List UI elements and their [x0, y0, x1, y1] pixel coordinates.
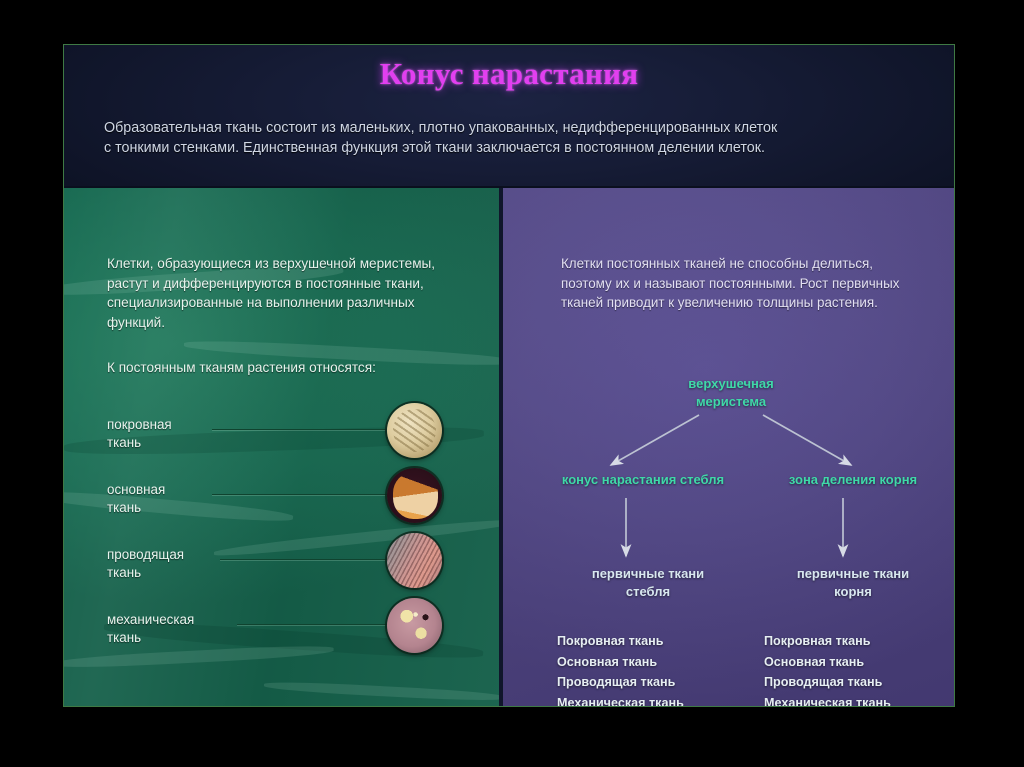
- tissue-label: проводящая ткань: [107, 546, 277, 582]
- tissue-label-line2: ткань: [107, 564, 277, 582]
- tissue-label-line2: ткань: [107, 629, 292, 647]
- right-paragraph-1: Клетки постоянных тканей не способны дел…: [561, 254, 921, 313]
- left-paragraph-1: Клетки, образующиеся из верхушечной мери…: [107, 254, 467, 332]
- tissue-label-line1: проводящая: [107, 546, 277, 564]
- tissue-label-line1: основная: [107, 481, 277, 499]
- intro-line-1: Образовательная ткань состоит из маленьк…: [104, 118, 914, 138]
- tissue-row[interactable]: механическая ткань: [107, 611, 492, 673]
- parenchyma-micrograph[interactable]: [387, 468, 442, 523]
- left-paragraph-2: К постоянным тканям растения относятся:: [107, 358, 477, 378]
- intro-line-2: с тонкими стенками. Единственная функция…: [104, 138, 914, 158]
- list-item: Покровная ткань: [557, 631, 757, 652]
- node-primary-tissues-stem: первичные ткани стебля: [548, 565, 748, 601]
- arrow-to-stem: [611, 415, 699, 465]
- epidermis-micrograph[interactable]: [387, 403, 442, 458]
- right-purple-panel: Клетки постоянных тканей не способны дел…: [503, 188, 954, 707]
- node-apical-meristem: верхушечная меристема: [631, 375, 831, 411]
- node-stem-growth-cone: конус нарастания стебля: [518, 471, 768, 489]
- mechanical-micrograph[interactable]: [387, 598, 442, 653]
- left-green-panel: Клетки, образующиеся из верхушечной мери…: [64, 188, 499, 707]
- tissue-label: основная ткань: [107, 481, 277, 517]
- node-pt-stem-line2: стебля: [548, 583, 748, 601]
- node-apical-line2: меристема: [631, 393, 831, 411]
- list-item: Проводящая ткань: [764, 672, 954, 693]
- node-root-division-zone: зона деления корня: [743, 471, 954, 489]
- node-pt-root-line1: первичные ткани: [758, 565, 948, 583]
- node-apical-line1: верхушечная: [631, 375, 831, 393]
- page-title: Конус нарастания: [64, 56, 954, 92]
- list-item: Основная ткань: [557, 652, 757, 673]
- tissue-label-line2: ткань: [107, 499, 277, 517]
- list-item: Покровная ткань: [764, 631, 954, 652]
- panels-row: Клетки, образующиеся из верхушечной мери…: [64, 188, 954, 707]
- tissue-label: механическая ткань: [107, 611, 292, 647]
- list-item: Механическая ткань: [557, 693, 757, 708]
- arrow-to-root: [763, 415, 851, 465]
- stem-tissue-list: Покровная ткань Основная ткань Проводяща…: [557, 631, 757, 707]
- list-item: Основная ткань: [764, 652, 954, 673]
- slide-header: Конус нарастания Образовательная ткань с…: [64, 45, 954, 188]
- node-pt-root-line2: корня: [758, 583, 948, 601]
- intro-paragraph: Образовательная ткань состоит из маленьк…: [104, 118, 914, 158]
- list-item: Механическая ткань: [764, 693, 954, 708]
- slide-frame: Конус нарастания Образовательная ткань с…: [63, 44, 955, 707]
- list-item: Проводящая ткань: [557, 672, 757, 693]
- slide-root: Конус нарастания Образовательная ткань с…: [0, 0, 1024, 767]
- node-primary-tissues-root: первичные ткани корня: [758, 565, 948, 601]
- root-tissue-list: Покровная ткань Основная ткань Проводяща…: [764, 631, 954, 707]
- tissue-row[interactable]: покровная ткань: [107, 416, 492, 478]
- tissue-label-line1: механическая: [107, 611, 292, 629]
- tissue-label-line2: ткань: [107, 434, 277, 452]
- vascular-micrograph[interactable]: [387, 533, 442, 588]
- tissue-label-line1: покровная: [107, 416, 277, 434]
- node-pt-stem-line1: первичные ткани: [548, 565, 748, 583]
- tissue-label: покровная ткань: [107, 416, 277, 452]
